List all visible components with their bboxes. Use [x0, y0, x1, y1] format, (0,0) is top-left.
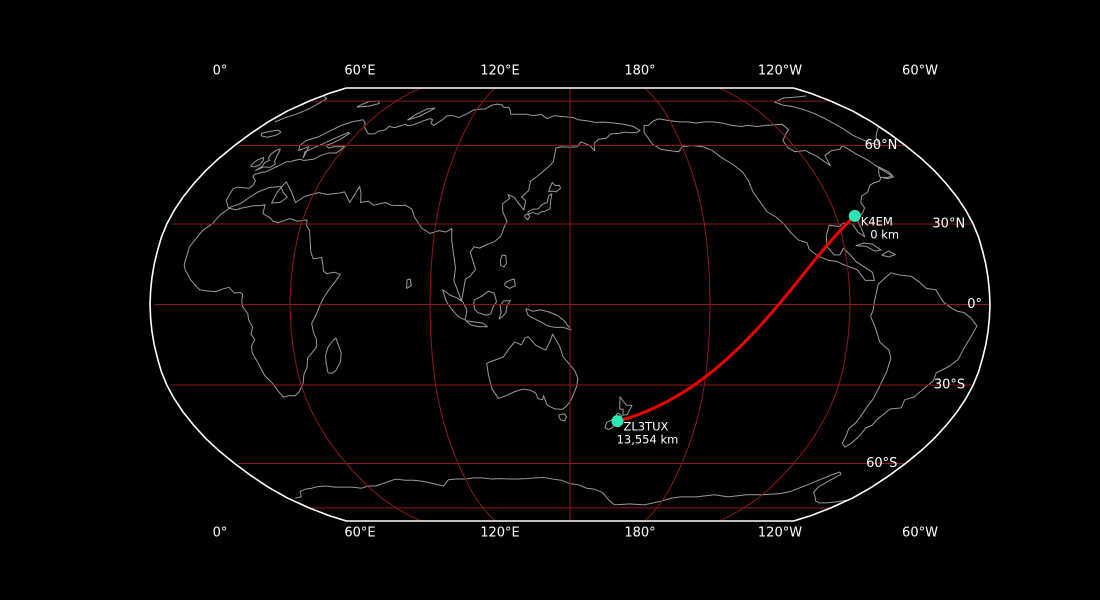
- figure-background: [0, 0, 1100, 600]
- lat-tick-4: 60°S: [866, 456, 897, 471]
- lon-tick-bottom-2: 180°: [624, 526, 655, 541]
- map-figure: Robinson Projection EM83 to RE66HO (236°…: [0, 0, 1100, 600]
- lon-tick-bottom-1: 120°E: [480, 526, 520, 541]
- lon-tick-top-5: 0°: [213, 64, 228, 79]
- lat-tick-1: 30°N: [932, 216, 965, 231]
- robinson-map-canvas: K4EM0 kmZL3TUX13,554 km 60°E60°E120°E120…: [0, 0, 1100, 600]
- distance-zl3tux: 13,554 km: [617, 433, 679, 447]
- lat-tick-0: 60°N: [865, 138, 898, 153]
- lat-tick-3: 30°S: [934, 378, 965, 393]
- lon-tick-top-1: 120°E: [480, 64, 520, 79]
- lon-tick-bottom-4: 60°W: [902, 526, 938, 541]
- lon-tick-bottom-3: 120°W: [758, 526, 802, 541]
- marker-k4em[interactable]: [849, 210, 861, 222]
- lon-tick-top-4: 60°W: [902, 64, 938, 79]
- marker-zl3tux[interactable]: [611, 415, 623, 427]
- lon-tick-top-3: 120°W: [758, 64, 802, 79]
- distance-k4em: 0 km: [870, 227, 899, 241]
- lon-tick-top-2: 180°: [624, 64, 655, 79]
- lon-tick-top-0: 60°E: [344, 64, 375, 79]
- lon-tick-bottom-0: 60°E: [344, 526, 375, 541]
- label-zl3tux: ZL3TUX: [623, 420, 668, 434]
- label-k4em: K4EM: [861, 214, 893, 228]
- lat-tick-2: 0°: [967, 297, 982, 312]
- lon-tick-bottom-5: 0°: [213, 526, 228, 541]
